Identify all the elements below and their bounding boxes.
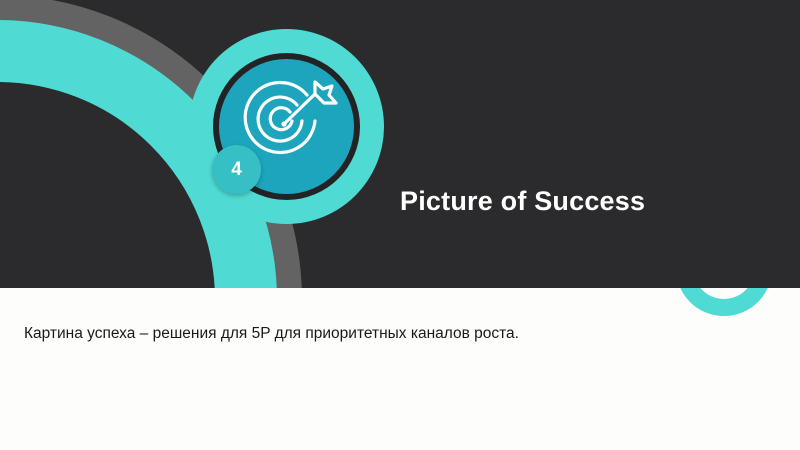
slide-title: Picture of Success [400, 186, 760, 217]
medallion: 4 [189, 29, 384, 224]
step-number-badge: 4 [212, 145, 261, 194]
slide-caption: Картина успеха – решения для 5P для прио… [24, 324, 764, 344]
header-band [0, 0, 800, 288]
step-number-badge-label: 4 [231, 160, 242, 179]
slide-canvas: 4 Picture of Success Картина успеха – ре… [0, 0, 800, 450]
